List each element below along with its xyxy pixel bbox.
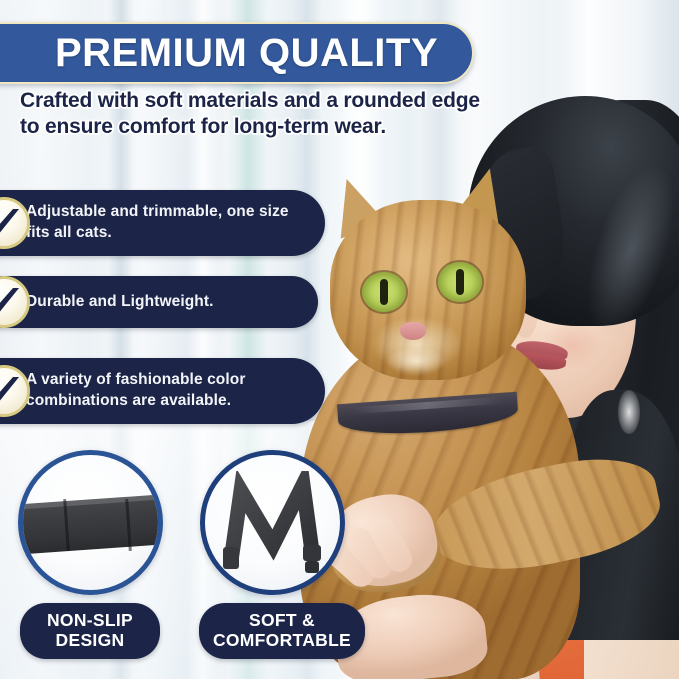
subtitle-text: Crafted with soft materials and a rounde… (20, 88, 490, 139)
collar-strap-closeup-image (18, 450, 163, 595)
feature-label: Adjustable and trimmable, one size fits … (0, 202, 325, 244)
collar-folded-m-shape-image (200, 450, 345, 595)
detail-circle-soft-comfortable: SOFT & COMFORTABLE (200, 450, 365, 659)
feature-item-3: A variety of fashionable color combinati… (0, 358, 325, 424)
detail-circle-non-slip: NON-SLIP DESIGN (18, 450, 163, 659)
detail-label-soft-comfortable: SOFT & COMFORTABLE (199, 603, 365, 659)
cat-pupil-right (456, 269, 464, 295)
folded-collar-strap-shape (217, 471, 329, 583)
check-icon (0, 276, 30, 328)
cat-pupil-left (380, 279, 388, 305)
feature-item-1: Adjustable and trimmable, one size fits … (0, 190, 325, 256)
feature-label: Durable and Lightweight. (0, 292, 232, 313)
cat-chin (386, 346, 446, 376)
premium-quality-banner: PREMIUM QUALITY (0, 22, 474, 84)
feature-item-2: Durable and Lightweight. (0, 276, 318, 328)
product-infographic: PREMIUM QUALITY Crafted with soft materi… (0, 0, 679, 679)
earring (618, 390, 640, 434)
feature-label: A variety of fashionable color combinati… (0, 370, 325, 412)
page-title: PREMIUM QUALITY (55, 33, 438, 73)
detail-label-non-slip: NON-SLIP DESIGN (20, 603, 160, 659)
cat-nose (400, 322, 426, 340)
